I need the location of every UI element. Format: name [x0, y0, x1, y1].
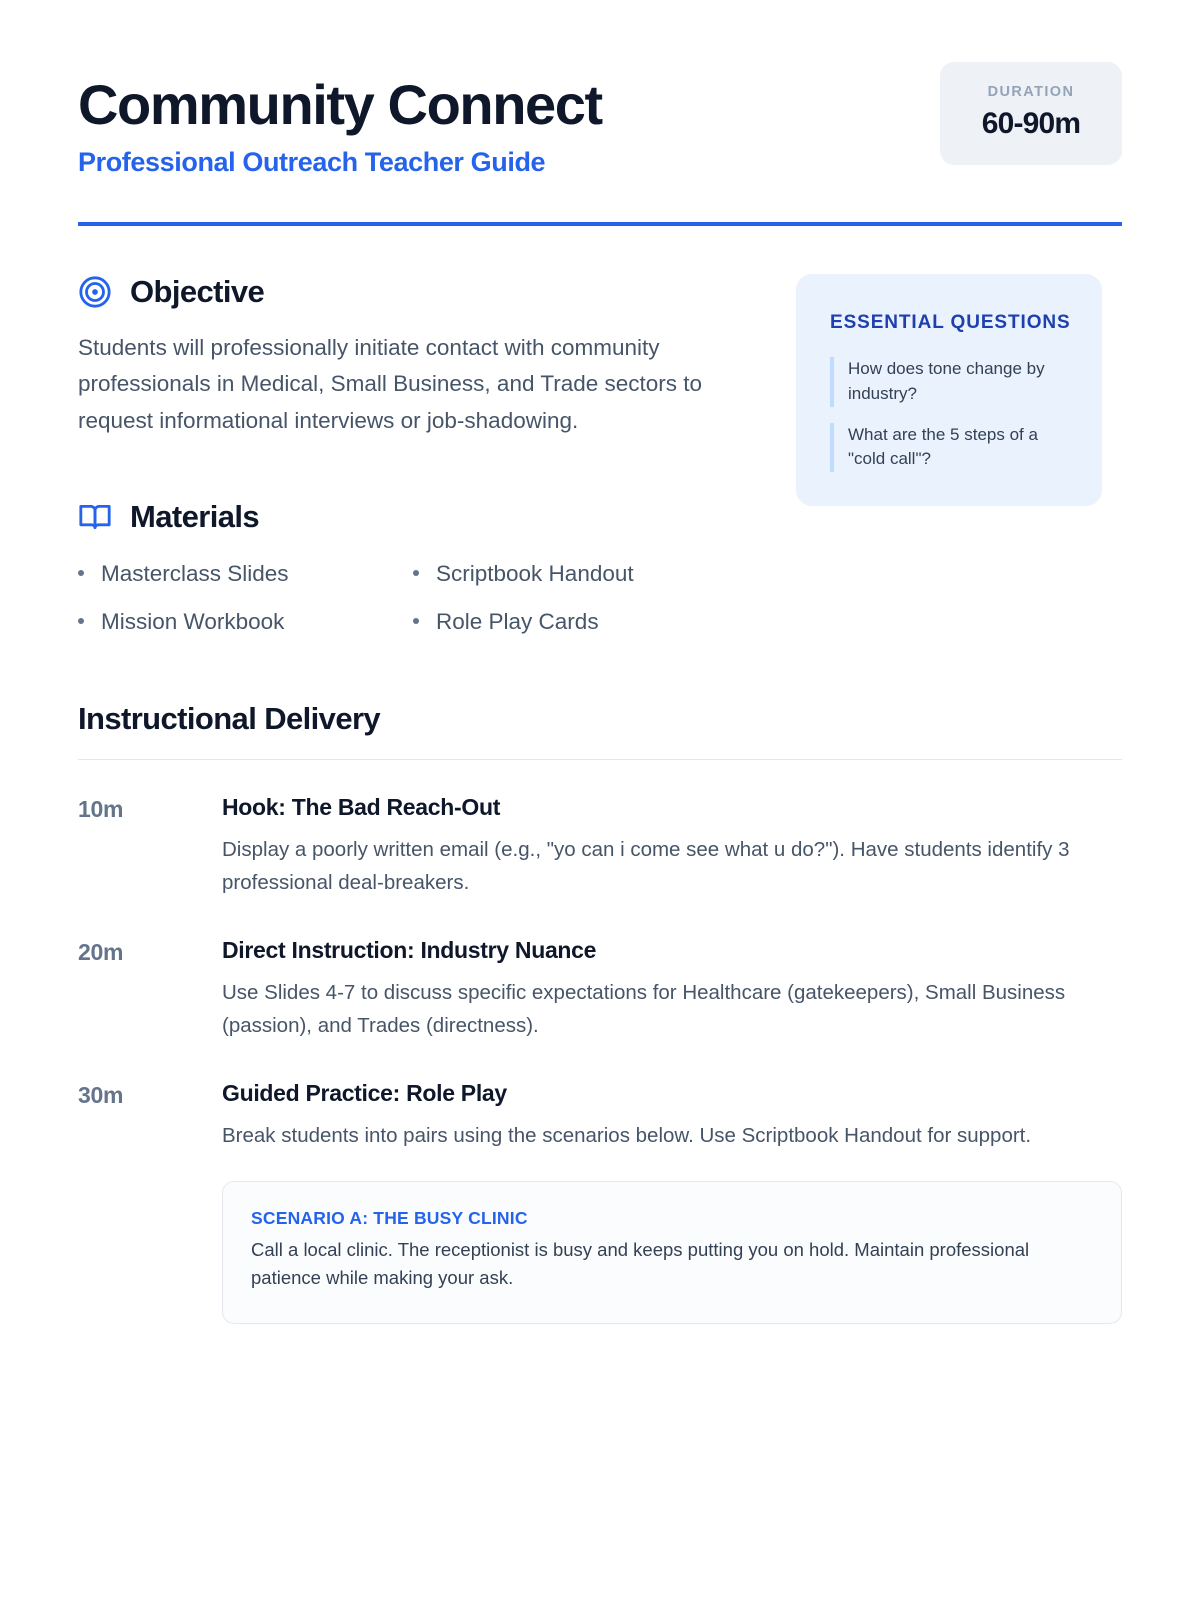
delivery-step: 20m Direct Instruction: Industry Nuance …: [78, 937, 1122, 1042]
step-duration: 20m: [78, 937, 200, 1042]
materials-section: Materials Masterclass Slides Scriptbook …: [78, 499, 768, 639]
materials-list: Masterclass Slides Scriptbook Handout Mi…: [78, 557, 768, 639]
bullet-icon: [78, 570, 84, 576]
list-item: What are the 5 steps of a "cold call"?: [830, 423, 1072, 472]
bullet-icon: [413, 570, 419, 576]
scenario-description: Call a local clinic. The receptionist is…: [251, 1236, 1093, 1293]
essential-questions-title: ESSENTIAL QUESTIONS: [830, 310, 1072, 336]
lesson-plan-page: Community Connect Professional Outreach …: [0, 0, 1200, 1600]
scenario-title: SCENARIO A: THE BUSY CLINIC: [251, 1208, 1093, 1229]
objective-heading: Objective: [130, 274, 264, 310]
step-title: Direct Instruction: Industry Nuance: [222, 937, 1122, 964]
step-description: Use Slides 4-7 to discuss specific expec…: [222, 976, 1122, 1042]
objective-section: Objective Students will professionally i…: [78, 274, 768, 439]
delivery-steps: 10m Hook: The Bad Reach-Out Display a po…: [78, 794, 1122, 1324]
header-divider: [78, 222, 1122, 226]
objective-text: Students will professionally initiate co…: [78, 330, 750, 439]
step-body: Hook: The Bad Reach-Out Display a poorly…: [222, 794, 1122, 899]
step-title: Guided Practice: Role Play: [222, 1080, 1122, 1107]
material-label: Mission Workbook: [101, 605, 284, 639]
delivery-step: 10m Hook: The Bad Reach-Out Display a po…: [78, 794, 1122, 899]
step-description: Break students into pairs using the scen…: [222, 1119, 1122, 1152]
instructional-delivery-section: Instructional Delivery 10m Hook: The Bad…: [78, 701, 1122, 1324]
sidebar-column: ESSENTIAL QUESTIONS How does tone change…: [796, 274, 1102, 506]
main-column: Objective Students will professionally i…: [78, 274, 768, 639]
materials-heading: Materials: [130, 499, 259, 535]
step-description: Display a poorly written email (e.g., "y…: [222, 833, 1122, 899]
target-icon: [78, 275, 112, 309]
essential-questions-card: ESSENTIAL QUESTIONS How does tone change…: [796, 274, 1102, 506]
step-duration: 30m: [78, 1080, 200, 1324]
page-title: Community Connect: [78, 76, 602, 135]
bullet-icon: [413, 618, 419, 624]
duration-value: 60-90m: [968, 107, 1094, 141]
document-header: Community Connect Professional Outreach …: [78, 62, 1122, 178]
material-label: Scriptbook Handout: [436, 557, 634, 591]
objective-header: Objective: [78, 274, 768, 310]
list-item: How does tone change by industry?: [830, 357, 1072, 406]
delivery-divider: [78, 759, 1122, 760]
scenario-card: SCENARIO A: THE BUSY CLINIC Call a local…: [222, 1181, 1122, 1324]
title-block: Community Connect Professional Outreach …: [78, 62, 602, 178]
list-item: Masterclass Slides: [78, 557, 413, 591]
essential-questions-list: How does tone change by industry? What a…: [830, 357, 1072, 472]
step-body: Guided Practice: Role Play Break student…: [222, 1080, 1122, 1324]
page-subtitle: Professional Outreach Teacher Guide: [78, 147, 602, 178]
step-title: Hook: The Bad Reach-Out: [222, 794, 1122, 821]
open-book-icon: [78, 500, 112, 534]
step-body: Direct Instruction: Industry Nuance Use …: [222, 937, 1122, 1042]
content-columns: Objective Students will professionally i…: [78, 274, 1122, 639]
bullet-icon: [78, 618, 84, 624]
step-duration: 10m: [78, 794, 200, 899]
duration-label: DURATION: [968, 84, 1094, 100]
material-label: Role Play Cards: [436, 605, 599, 639]
delivery-step: 30m Guided Practice: Role Play Break stu…: [78, 1080, 1122, 1324]
list-item: Mission Workbook: [78, 605, 413, 639]
material-label: Masterclass Slides: [101, 557, 289, 591]
duration-badge: DURATION 60-90m: [940, 62, 1122, 165]
materials-header: Materials: [78, 499, 768, 535]
list-item: Scriptbook Handout: [413, 557, 768, 591]
delivery-heading: Instructional Delivery: [78, 701, 1122, 737]
list-item: Role Play Cards: [413, 605, 768, 639]
